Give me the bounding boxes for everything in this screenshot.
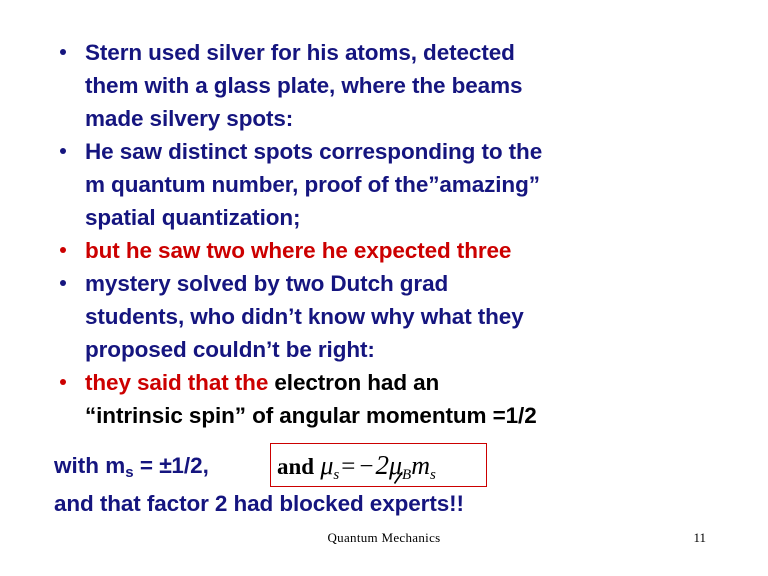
with-ms-subscript: s xyxy=(125,464,133,481)
footer-page-number: 11 xyxy=(693,530,706,546)
bullet-dot-icon xyxy=(60,49,66,55)
bullet-item-two-not-three: but he saw two where he expected three xyxy=(54,234,754,267)
with-ms-equals: = xyxy=(134,453,160,478)
with-ms-prefix: with m xyxy=(54,453,125,478)
up-arrow-icon xyxy=(392,468,408,485)
minus-sign: − xyxy=(357,453,375,480)
bullet-dot-icon xyxy=(60,280,66,286)
bullet-dot-icon xyxy=(60,379,66,385)
bullet-dot-icon xyxy=(60,247,66,253)
plus-minus-icon: ± xyxy=(159,452,171,478)
bullet-line: Stern used silver for his atoms, detecte… xyxy=(85,36,754,69)
mu-glyph: μ xyxy=(320,451,333,480)
footer-title: Quantum Mechanics xyxy=(0,530,768,546)
with-ms-value: 1/2, xyxy=(171,453,209,478)
bullet-dot-icon xyxy=(60,148,66,154)
bullet-line: made silvery spots: xyxy=(85,102,754,135)
bullet-line: He saw distinct spots corresponding to t… xyxy=(85,135,754,168)
bullet-line: spatial quantization; xyxy=(85,201,754,234)
slide-canvas: Stern used silver for his atoms, detecte… xyxy=(0,0,768,576)
bullet-line: they said that the electron had an xyxy=(85,366,754,399)
closing-statement: and that factor 2 had blocked experts!! xyxy=(54,489,464,519)
factor-two: 2 xyxy=(375,450,389,480)
equals-sign: = xyxy=(339,453,357,480)
bullet-line: students, who didn’t know why what they xyxy=(85,300,754,333)
m-glyph: m xyxy=(411,451,430,480)
bullet-line: them with a glass plate, where the beams xyxy=(85,69,754,102)
equation-and-word: and xyxy=(277,454,314,479)
bullet-segment-red: they said that the xyxy=(85,370,274,395)
bullet-line: m quantum number, proof of the”amazing” xyxy=(85,168,754,201)
bullet-item-dutch-grad-students: mystery solved by two Dutch grad student… xyxy=(54,267,754,366)
mu-s-subscript: s xyxy=(333,467,339,483)
bullet-line: but he saw two where he expected three xyxy=(85,234,754,267)
boxed-equation: and μs=−2μBms xyxy=(270,443,487,487)
bullet-line: mystery solved by two Dutch grad xyxy=(85,267,754,300)
boxed-equation-content: and μs=−2μBms xyxy=(277,446,436,489)
m-s-symbol: ms xyxy=(411,451,436,480)
mu-s-symbol: μs xyxy=(320,451,339,480)
bullet-item-distinct-spots: He saw distinct spots corresponding to t… xyxy=(54,135,754,234)
m-s-subscript: s xyxy=(430,467,436,483)
bullet-item-intrinsic-spin: they said that the electron had an “intr… xyxy=(54,366,754,432)
bullet-line: “intrinsic spin” of angular momentum =1/… xyxy=(85,399,754,432)
bullet-item-stern-silver: Stern used silver for his atoms, detecte… xyxy=(54,36,754,135)
bullet-list: Stern used silver for his atoms, detecte… xyxy=(54,36,754,432)
bullet-line: proposed couldn’t be right: xyxy=(85,333,754,366)
bullet-segment-black: electron had an xyxy=(274,370,439,395)
with-ms-label: with ms = ±1/2, xyxy=(54,450,209,484)
formula-row: with ms = ±1/2, and μs=−2μBms xyxy=(54,443,754,489)
